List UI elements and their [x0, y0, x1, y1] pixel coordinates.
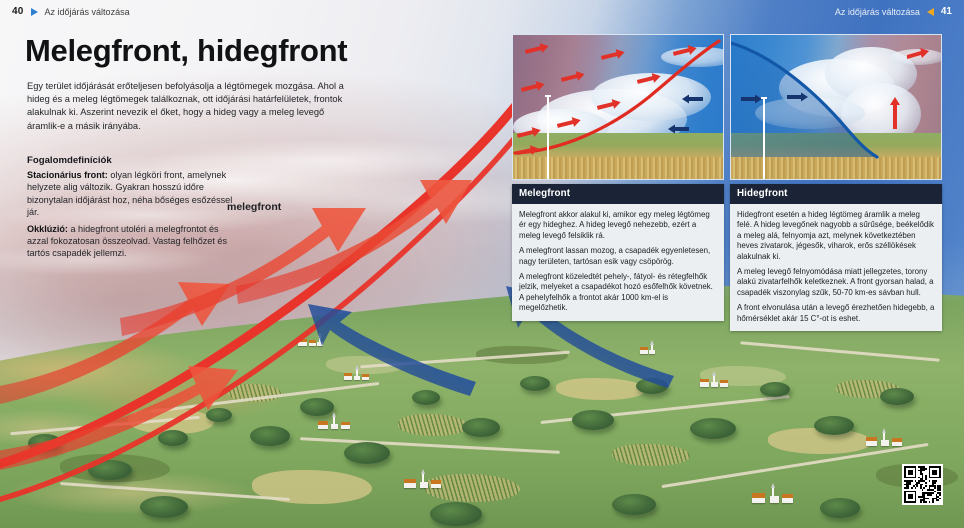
road — [661, 443, 928, 488]
tree-cluster — [820, 498, 860, 518]
tree-cluster — [636, 378, 668, 394]
qr-code-icon[interactable] — [902, 464, 943, 505]
field-patch — [768, 428, 872, 454]
page-number-right: 41 — [941, 6, 952, 17]
tree-cluster — [88, 460, 132, 480]
diagram-scale-marker — [547, 95, 549, 180]
cold-front-diagram — [730, 34, 942, 180]
tree-cluster — [690, 418, 736, 439]
tree-cluster — [28, 434, 62, 452]
page-title: Melegfront, hidegfront — [25, 33, 347, 69]
definitions-block: Fogalomdefiníciók Stacionárius front: ol… — [27, 155, 242, 260]
road — [360, 351, 570, 368]
caption-title: Melegfront — [512, 184, 724, 204]
road — [541, 395, 790, 424]
diagram-scale-marker — [763, 97, 765, 180]
header-right-title: Az időjárás változása — [835, 7, 920, 17]
intro-paragraph: Egy terület időjárását erőteljesen befol… — [27, 80, 357, 133]
tree-cluster — [140, 496, 188, 518]
field-patch — [398, 414, 468, 436]
warm-front-diagram — [512, 34, 724, 180]
tree-cluster — [612, 494, 656, 515]
tree-cluster — [344, 442, 390, 464]
field-patch — [228, 384, 282, 402]
definitions-heading: Fogalomdefiníciók — [27, 155, 242, 166]
field-patch — [128, 408, 214, 434]
field-patch — [326, 356, 404, 374]
triangle-left-icon — [927, 8, 934, 16]
field-patch — [60, 454, 170, 482]
tree-cluster — [814, 416, 854, 435]
tree-cluster — [462, 418, 500, 437]
cold-front-caption-box: Hidegfront Hidegfront esetén a hideg lég… — [730, 184, 942, 331]
caption-paragraph: Melegfront akkor alakul ki, amikor egy m… — [519, 210, 717, 241]
caption-paragraph: A front elvonulása után a levegő érezhet… — [737, 303, 935, 324]
tree-cluster — [572, 410, 614, 430]
tree-cluster — [412, 390, 440, 405]
definition-item: Stacionárius front: olyan légköri front,… — [27, 169, 242, 219]
field-patch — [476, 346, 568, 364]
field-patch — [612, 444, 690, 466]
field-patch — [252, 470, 372, 504]
caption-paragraph: A melegfront lassan mozog, a csapadék eg… — [519, 246, 717, 267]
caption-paragraph: A meleg levegő felnyomódása miatt jelleg… — [737, 267, 935, 298]
caption-body: Melegfront akkor alakul ki, amikor egy m… — [512, 204, 724, 321]
warm-front-caption-box: Melegfront Melegfront akkor alakul ki, a… — [512, 184, 724, 321]
road — [151, 382, 380, 413]
diagram-front-line — [513, 35, 724, 180]
tree-cluster — [158, 430, 188, 446]
tree-cluster — [520, 376, 550, 391]
caption-paragraph: A melegfront közeledtét pehely-, fátyol-… — [519, 272, 717, 314]
header-left: 40 Az időjárás változása — [0, 0, 130, 17]
definition-item: Okklúzió: a hidegfront utoléri a melegfr… — [27, 223, 242, 260]
road — [60, 482, 290, 501]
tree-cluster — [760, 382, 790, 397]
tree-cluster — [250, 426, 290, 446]
header-left-title: Az időjárás változása — [45, 7, 130, 17]
tree-cluster — [300, 398, 334, 416]
field-patch — [424, 474, 520, 502]
tree-cluster — [206, 408, 232, 422]
definition-term: Stacionárius front: — [27, 170, 108, 180]
field-patch — [700, 366, 786, 386]
page-spread: 40 Az időjárás változása Az időjárás vál… — [0, 0, 964, 528]
tree-cluster — [880, 388, 914, 405]
field-patch — [836, 380, 900, 398]
header-right: Az időjárás változása 41 — [835, 0, 952, 17]
road — [740, 341, 939, 361]
field-patch — [556, 378, 646, 400]
page-number-left: 40 — [12, 6, 24, 17]
melegfront-diagram-label: melegfront — [227, 201, 281, 213]
caption-paragraph: Hidegfront esetén a hideg légtömeg áraml… — [737, 210, 935, 262]
caption-body: Hidegfront esetén a hideg légtömeg áraml… — [730, 204, 942, 331]
tree-cluster — [430, 502, 482, 526]
triangle-right-icon — [31, 8, 38, 16]
caption-title: Hidegfront — [730, 184, 942, 204]
road — [300, 437, 560, 453]
road — [10, 416, 199, 435]
definition-term: Okklúzió: — [27, 224, 68, 234]
